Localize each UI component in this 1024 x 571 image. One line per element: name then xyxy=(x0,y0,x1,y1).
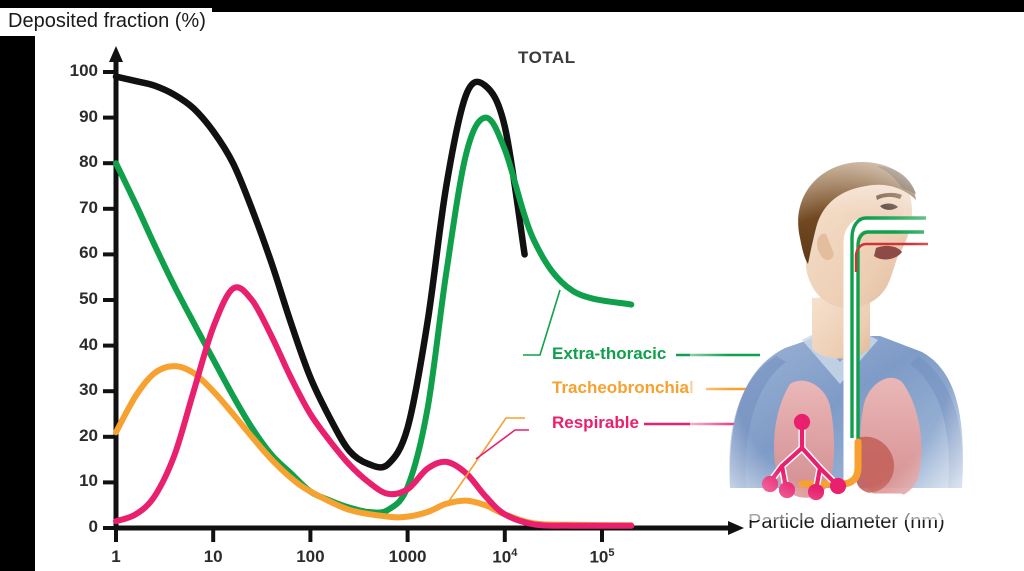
x-tick-2: 100 xyxy=(280,547,340,567)
x-tick-3: 1000 xyxy=(378,547,438,567)
slide-canvas: Deposited fraction (%) TOTAL 01020304050… xyxy=(0,0,1024,571)
y-tick-30: 30 xyxy=(58,380,98,400)
x-tick-0: 1 xyxy=(86,547,146,567)
y-tick-40: 40 xyxy=(58,335,98,355)
total-curve-label: TOTAL xyxy=(518,48,576,68)
legend-label-respirable: Respirable xyxy=(552,413,639,433)
y-tick-10: 10 xyxy=(58,471,98,491)
y-axis-title: Deposited fraction (%) xyxy=(0,8,212,36)
x-tick-1: 10 xyxy=(183,547,243,567)
curve-paths xyxy=(116,77,631,526)
curve-total xyxy=(116,77,525,468)
legend-label-extra-thoracic: Extra-thoracic xyxy=(552,344,666,364)
x-tick-4: 104 xyxy=(475,547,535,568)
legend-label-tracheobronchial: Tracheobronchial xyxy=(552,378,694,398)
y-tick-60: 60 xyxy=(58,243,98,263)
respiratory-anatomy-illustration xyxy=(690,148,990,520)
y-tick-80: 80 xyxy=(58,152,98,172)
x-tick-5: 105 xyxy=(572,547,632,568)
curve-extra-thoracic xyxy=(116,118,631,513)
y-tick-90: 90 xyxy=(58,107,98,127)
y-tick-0: 0 xyxy=(58,517,98,537)
y-tick-70: 70 xyxy=(58,198,98,218)
y-tick-50: 50 xyxy=(58,289,98,309)
y-tick-100: 100 xyxy=(58,61,98,81)
y-tick-20: 20 xyxy=(58,426,98,446)
